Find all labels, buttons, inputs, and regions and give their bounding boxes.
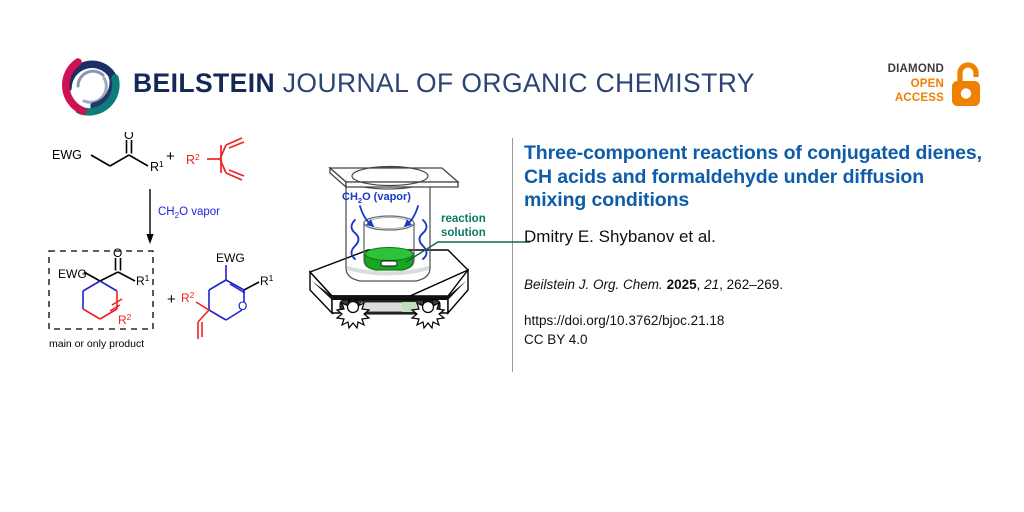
reaction-scheme: EWG O R1 + R2: [40, 132, 300, 362]
article-citation: Beilstein J. Org. Chem. 2025, 21, 262–26…: [524, 276, 984, 294]
product-carbonyl-o-label: O: [113, 246, 122, 260]
oa-open-text: OPEN: [866, 77, 944, 92]
plus-sign-1: +: [166, 148, 175, 165]
vapor-label-ch2o: CH2O (vapor): [342, 191, 411, 205]
citation-volume: 21: [704, 277, 719, 292]
arrow-label-ch2o-vapor: CH2O vapor: [158, 206, 220, 220]
graphical-abstract: EWG O R1 + R2: [40, 132, 500, 362]
pyran-r1-label: R1: [260, 273, 274, 288]
journal-title: BEILSTEIN JOURNAL OF ORGANIC CHEMISTRY: [133, 68, 755, 99]
reactant-diene: [207, 138, 244, 180]
reaction-arrow: [146, 189, 153, 244]
reactant-ewg-label: EWG: [52, 148, 82, 162]
product-ewg-label: EWG: [58, 267, 87, 281]
citation-pages: 262–269.: [727, 277, 783, 292]
reactant-ketone: [91, 140, 148, 166]
product-r2-label: R2: [118, 312, 132, 327]
reactant-carbonyl-o-label: O: [124, 132, 134, 142]
journal-title-light: JOURNAL OF ORGANIC CHEMISTRY: [283, 68, 755, 98]
diamond-open-access-badge: DIAMOND OPEN ACCESS: [866, 60, 986, 116]
reaction-solution-callout-line1: reaction: [441, 213, 486, 225]
oa-access-text: ACCESS: [866, 91, 944, 106]
pyran-ewg-label: EWG: [216, 251, 245, 265]
journal-header: BEILSTEIN JOURNAL OF ORGANIC CHEMISTRY D…: [0, 0, 1024, 128]
citation-journal: Beilstein J. Org. Chem.: [524, 277, 663, 292]
reaction-solution-callout-line2: solution: [441, 227, 486, 239]
product-cyclohexene: [83, 258, 135, 319]
product-r1-label: R1: [136, 273, 150, 288]
plus-sign-2: +: [167, 291, 176, 308]
open-access-label: DIAMOND OPEN ACCESS: [866, 62, 944, 106]
apparatus-illustration: CH2O (vapor) reaction solution: [298, 150, 533, 350]
pyran-oxygen-label: O: [238, 299, 247, 313]
cover-glass-plate: [330, 168, 458, 187]
reactant-r1-label: R1: [150, 159, 164, 174]
main-product-dashed-box: [49, 251, 153, 329]
article-authors: Dmitry E. Shybanov et al.: [524, 226, 984, 247]
journal-title-bold: BEILSTEIN: [133, 68, 275, 98]
reactant-r2-label: R2: [186, 152, 200, 167]
product-pyran: [196, 265, 259, 339]
article-info-panel: Three-component reactions of conjugated …: [524, 142, 984, 349]
hotplate-knob-left: [337, 300, 369, 328]
article-title[interactable]: Three-component reactions of conjugated …: [524, 142, 984, 213]
oa-diamond-text: DIAMOND: [866, 62, 944, 77]
article-license: CC BY 4.0: [524, 330, 984, 349]
reaction-solution-liquid: [365, 248, 413, 271]
main-product-caption: main or only product: [49, 338, 144, 350]
beilstein-spiral-logo-icon: [56, 48, 126, 118]
stir-bar: [381, 261, 397, 266]
article-doi-link[interactable]: https://doi.org/10.3762/bjoc.21.18: [524, 311, 984, 330]
open-lock-icon: [950, 60, 986, 108]
hotplate-knob-right: [412, 300, 444, 328]
pyran-r2-label: R2: [181, 290, 195, 305]
citation-year: 2025: [667, 277, 697, 292]
